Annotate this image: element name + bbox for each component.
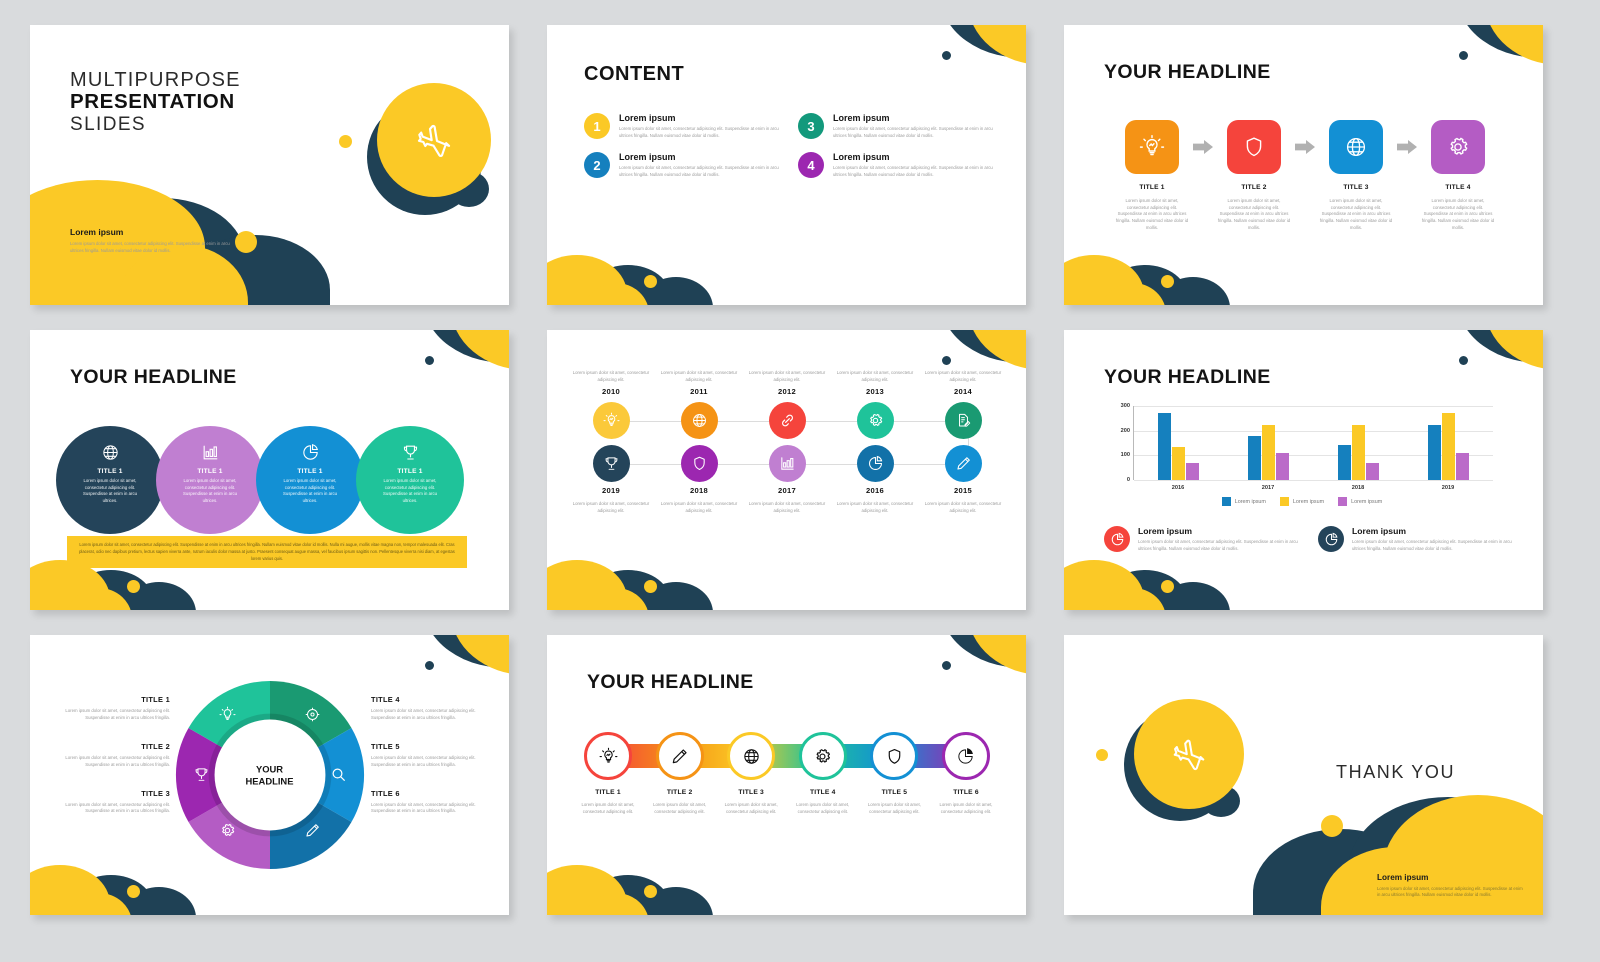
- label-title: TITLE 4: [371, 695, 491, 704]
- node-circle[interactable]: [857, 402, 894, 439]
- chain-labels: TITLE 1 Lorem ipsum dolor sit amet, cons…: [577, 789, 997, 816]
- item-number-badge: 1: [584, 113, 610, 139]
- list-item[interactable]: 3 Lorem ipsum Lorem ipsum dolor sit amet…: [798, 113, 994, 139]
- bottom-yellow-b: [583, 283, 649, 305]
- bottom-dot: [644, 275, 657, 288]
- process-steps: TITLE 1 Lorem ipsum dolor sit amet, cons…: [1087, 120, 1523, 231]
- corner-yellow-shape: [1485, 330, 1543, 370]
- timeline-label: 2018 Lorem ipsum dolor sit amet, consect…: [655, 482, 743, 514]
- gear-icon: [813, 747, 832, 766]
- step-icon-tile[interactable]: [1431, 120, 1485, 174]
- lorem-label: Lorem ipsum: [1377, 873, 1525, 882]
- legend-swatch: [1280, 497, 1289, 506]
- airplane-icon: [414, 120, 454, 160]
- corner-yellow-shape: [968, 330, 1026, 370]
- chain-title: TITLE 5: [863, 789, 925, 796]
- item-text: Lorem ipsum Lorem ipsum dolor sit amet, …: [619, 152, 780, 178]
- highlight-panel: Lorem ipsum dolor sit amet, consectetur …: [67, 536, 467, 568]
- bottom-navy-b: [639, 582, 713, 610]
- timeline-year: 2015: [919, 486, 1007, 495]
- donut-label[interactable]: TITLE 2 Lorem ipsum dolor sit amet, cons…: [50, 742, 170, 769]
- cover-planet-graphic: [353, 83, 491, 213]
- slide-thank-you[interactable]: THANK YOU Lorem ipsum Lorem ipsum dolor …: [1064, 635, 1543, 915]
- planet-small-dot: [339, 135, 352, 148]
- step-icon-tile[interactable]: [1329, 120, 1383, 174]
- corner-yellow-shape: [451, 330, 509, 370]
- globe-icon: [1344, 135, 1368, 159]
- timeline-label: 2019 Lorem ipsum dolor sit amet, consect…: [567, 482, 655, 514]
- chain-node[interactable]: [727, 732, 775, 780]
- trophy-icon: [603, 455, 620, 472]
- timeline-label: 2017 Lorem ipsum dolor sit amet, consect…: [743, 482, 831, 514]
- timeline-desc: Lorem ipsum dolor sit amet, consectetur …: [743, 370, 831, 383]
- info-circle[interactable]: TITLE 1 Lorem ipsum dolor sit amet, cons…: [156, 426, 264, 534]
- target-icon: [304, 706, 321, 723]
- shield-icon: [885, 747, 904, 766]
- slide-timeline[interactable]: Lorem ipsum dolor sit amet, consectetur …: [547, 330, 1026, 610]
- chart-y-tick-label: 0: [1127, 477, 1130, 483]
- label-title: TITLE 1: [50, 695, 170, 704]
- item-heading: Lorem ipsum: [833, 152, 994, 162]
- pencil-icon: [670, 747, 689, 766]
- chain-node[interactable]: [584, 732, 632, 780]
- node-circle[interactable]: [681, 445, 718, 482]
- chart-bar[interactable]: [1276, 453, 1289, 480]
- item-text: Lorem ipsum Lorem ipsum dolor sit amet, …: [619, 113, 780, 139]
- chain-node[interactable]: [942, 732, 990, 780]
- center-line2: HEADLINE: [246, 775, 294, 787]
- airplane-icon: [1170, 735, 1208, 773]
- bottom-yellow-b: [583, 893, 649, 915]
- donut-label[interactable]: TITLE 6 Lorem ipsum dolor sit amet, cons…: [371, 789, 491, 816]
- donut-icon-5-wrap: [330, 766, 347, 788]
- slide-circles[interactable]: YOUR HEADLINE TITLE 1 Lorem ipsum dolor …: [30, 330, 509, 610]
- timeline-year: 2010: [567, 387, 655, 396]
- bottom-yellow-b: [1100, 588, 1166, 610]
- globe-icon: [742, 747, 761, 766]
- search-icon: [330, 766, 347, 783]
- label-body: Lorem ipsum dolor sit amet, consectetur …: [371, 802, 491, 816]
- bottom-yellow-b: [66, 893, 132, 915]
- item-body: Lorem ipsum dolor sit amet, consectetur …: [619, 126, 780, 139]
- content-list: 1 Lorem ipsum Lorem ipsum dolor sit amet…: [584, 113, 994, 179]
- corner-dot: [942, 661, 951, 670]
- chain-title: TITLE 6: [935, 789, 997, 796]
- chart-bar[interactable]: [1366, 463, 1379, 480]
- bottom-navy-b: [1156, 582, 1230, 610]
- arrow-right-glyph: [1397, 140, 1417, 154]
- node-circle[interactable]: [593, 445, 630, 482]
- globe-icon: [101, 443, 120, 462]
- lightbulb-icon: [1139, 134, 1165, 160]
- pencil-icon: [304, 822, 321, 839]
- item-heading: Lorem ipsum: [833, 113, 994, 123]
- circle-title: TITLE 1: [197, 468, 222, 475]
- slide-cover[interactable]: MULTIPURPOSE PRESENTATION SLIDES Lorem i…: [30, 25, 509, 305]
- corner-dot: [1459, 356, 1468, 365]
- label-body: Lorem ipsum dolor sit amet, consectetur …: [50, 802, 170, 816]
- step-icon-tile[interactable]: [1227, 120, 1281, 174]
- bottom-navy-b: [122, 887, 196, 915]
- corner-navy-shape: [1457, 25, 1543, 77]
- chart-bar-group: [1248, 406, 1289, 480]
- lightbulb-icon: [599, 747, 618, 766]
- bottom-yellow-a: [547, 865, 627, 915]
- circle-body: Lorem ipsum dolor sit amet, consectetur …: [379, 478, 441, 505]
- timeline-top-labels: Lorem ipsum dolor sit amet, consectetur …: [567, 370, 1007, 402]
- chain-node[interactable]: [656, 732, 704, 780]
- legend-label: Lorem ipsum: [1293, 499, 1324, 505]
- summary-cards: Lorem ipsum Lorem ipsum dolor sit amet, …: [1104, 526, 1514, 552]
- timeline-desc: Lorem ipsum dolor sit amet, consectetur …: [919, 501, 1007, 514]
- legend-label: Lorem ipsum: [1351, 499, 1382, 505]
- node-circle[interactable]: [681, 402, 718, 439]
- item-text: Lorem ipsum Lorem ipsum dolor sit amet, …: [833, 113, 994, 139]
- item-text: Lorem ipsum Lorem ipsum dolor sit amet, …: [833, 152, 994, 178]
- donut-icon-1-wrap: [219, 706, 236, 728]
- timeline-label: Lorem ipsum dolor sit amet, consectetur …: [831, 370, 919, 402]
- node-circle[interactable]: [945, 402, 982, 439]
- donut-icon-6-wrap: [304, 822, 321, 844]
- card-icon-badge: [1318, 526, 1344, 552]
- circle-body: Lorem ipsum dolor sit amet, consectetur …: [279, 478, 341, 505]
- page-title: YOUR HEADLINE: [70, 366, 237, 389]
- list-item[interactable]: 2 Lorem ipsum Lorem ipsum dolor sit amet…: [584, 152, 780, 178]
- bottom-dot: [127, 885, 140, 898]
- corner-yellow-shape: [968, 635, 1026, 675]
- bottom-dot: [1161, 580, 1174, 593]
- bottom-navy-b: [639, 277, 713, 305]
- chain-node[interactable]: [799, 732, 847, 780]
- timeline-desc: Lorem ipsum dolor sit amet, consectetur …: [831, 501, 919, 514]
- thankyou-lorem-block: Lorem ipsum Lorem ipsum dolor sit amet, …: [1377, 873, 1525, 899]
- slide-deck: MULTIPURPOSE PRESENTATION SLIDES Lorem i…: [0, 0, 1600, 962]
- bar-chart-icon: [201, 443, 220, 462]
- timeline-bottom-labels: 2019 Lorem ipsum dolor sit amet, consect…: [567, 482, 1007, 514]
- corner-yellow-shape: [1485, 25, 1543, 65]
- slide-content[interactable]: CONTENT 1 Lorem ipsum Lorem ipsum dolor …: [547, 25, 1026, 305]
- lightbulb-icon: [219, 706, 236, 723]
- chart-plot-area: 0100200300: [1133, 406, 1493, 480]
- bar-chart: 0100200300 2016201720182019: [1107, 406, 1497, 494]
- page-title: YOUR HEADLINE: [1104, 61, 1271, 84]
- bottom-navy-b: [639, 887, 713, 915]
- step-title: TITLE 4: [1420, 184, 1496, 191]
- chain-title: TITLE 1: [577, 789, 639, 796]
- bottom-dot: [644, 580, 657, 593]
- step-body: Lorem ipsum dolor sit amet, consectetur …: [1114, 198, 1190, 231]
- chain-title: TITLE 2: [649, 789, 711, 796]
- chart-x-tick-label: 2018: [1352, 485, 1364, 491]
- bottom-dot: [1161, 275, 1174, 288]
- info-circle[interactable]: TITLE 1 Lorem ipsum dolor sit amet, cons…: [256, 426, 364, 534]
- corner-dot: [942, 356, 951, 365]
- bottom-yellow-a: [547, 255, 627, 305]
- item-number-badge: 2: [584, 152, 610, 178]
- bar-chart-icon: [779, 455, 796, 472]
- timeline-year: 2017: [743, 486, 831, 495]
- timeline-desc: Lorem ipsum dolor sit amet, consectetur …: [655, 501, 743, 514]
- chain-title: TITLE 3: [720, 789, 782, 796]
- bottom-yellow-a: [1064, 255, 1144, 305]
- label-body: Lorem ipsum dolor sit amet, consectetur …: [371, 708, 491, 722]
- legend-label: Lorem ipsum: [1235, 499, 1266, 505]
- timeline-label: 2016 Lorem ipsum dolor sit amet, consect…: [831, 482, 919, 514]
- timeline-desc: Lorem ipsum dolor sit amet, consectetur …: [567, 501, 655, 514]
- process-step[interactable]: TITLE 2 Lorem ipsum dolor sit amet, cons…: [1216, 120, 1292, 231]
- timeline-desc: Lorem ipsum dolor sit amet, consectetur …: [743, 501, 831, 514]
- timeline-label: Lorem ipsum dolor sit amet, consectetur …: [919, 370, 1007, 402]
- corner-dot: [425, 661, 434, 670]
- timeline-year: 2011: [655, 387, 743, 396]
- item-heading: Lorem ipsum: [619, 113, 780, 123]
- cover-lorem-block: Lorem ipsum Lorem ipsum dolor sit amet, …: [70, 227, 230, 254]
- step-title: TITLE 3: [1318, 184, 1394, 191]
- node-circle[interactable]: [769, 402, 806, 439]
- summary-card[interactable]: Lorem ipsum Lorem ipsum dolor sit amet, …: [1318, 526, 1514, 552]
- corner-dot: [425, 356, 434, 365]
- chart-legend-item[interactable]: Lorem ipsum: [1280, 497, 1324, 506]
- chart-bar[interactable]: [1262, 425, 1275, 480]
- donut-center-label: YOUR HEADLINE: [246, 763, 294, 787]
- shield-icon: [1242, 135, 1266, 159]
- list-item[interactable]: 1 Lorem ipsum Lorem ipsum dolor sit amet…: [584, 113, 780, 139]
- slide-process-squares[interactable]: YOUR HEADLINE TITLE 1 Lorem ipsum dolor …: [1064, 25, 1543, 305]
- page-title: YOUR HEADLINE: [587, 671, 754, 694]
- chart-legend-item[interactable]: Lorem ipsum: [1338, 497, 1382, 506]
- node-circle[interactable]: [593, 402, 630, 439]
- corner-dot: [942, 51, 951, 60]
- chain-label: TITLE 1 Lorem ipsum dolor sit amet, cons…: [577, 789, 639, 816]
- pie-chart-icon: [867, 455, 884, 472]
- node-circle[interactable]: [945, 445, 982, 482]
- donut-left-labels: TITLE 1 Lorem ipsum dolor sit amet, cons…: [50, 695, 170, 835]
- corner-yellow-shape: [451, 635, 509, 675]
- bottom-navy-a: [585, 265, 671, 305]
- chart-y-tick-label: 200: [1121, 428, 1130, 434]
- cover-title-line3: SLIDES: [70, 114, 241, 135]
- donut-icon-2-wrap: [193, 766, 210, 788]
- timeline-year: 2018: [655, 486, 743, 495]
- timeline-year: 2019: [567, 486, 655, 495]
- planet-disc: [1134, 699, 1244, 809]
- arrow-right-icon: [1394, 140, 1420, 154]
- bottom-navy-a: [1102, 265, 1188, 305]
- card-text: Lorem ipsum Lorem ipsum dolor sit amet, …: [1352, 526, 1514, 552]
- label-title: TITLE 6: [371, 789, 491, 798]
- bottom-navy-a: [68, 570, 154, 610]
- chart-legend: Lorem ipsumLorem ipsumLorem ipsum: [1107, 497, 1497, 506]
- timeline-year: 2013: [831, 387, 919, 396]
- shield-icon: [691, 455, 708, 472]
- globe-icon: [691, 412, 708, 429]
- timeline-year: 2014: [919, 387, 1007, 396]
- circle-title: TITLE 1: [97, 468, 122, 475]
- bottom-yellow-b: [66, 588, 132, 610]
- bottom-navy-a: [585, 875, 671, 915]
- cover-title-line2: PRESENTATION: [70, 91, 241, 114]
- item-heading: Lorem ipsum: [619, 152, 780, 162]
- chain-group: TITLE 1 Lorem ipsum dolor sit amet, cons…: [577, 731, 997, 816]
- chain-body: Lorem ipsum dolor sit amet, consectetur …: [792, 802, 854, 816]
- thankyou-planet-graphic: [1122, 699, 1252, 824]
- item-number-badge: 3: [798, 113, 824, 139]
- arrow-right-icon: [1190, 140, 1216, 154]
- slide-bar-chart[interactable]: YOUR HEADLINE 0100200300 201620172018201…: [1064, 330, 1543, 610]
- process-step[interactable]: TITLE 1 Lorem ipsum dolor sit amet, cons…: [1114, 120, 1190, 231]
- blob-dot: [235, 231, 257, 253]
- legend-swatch: [1222, 497, 1231, 506]
- corner-navy-shape: [1457, 330, 1543, 382]
- legend-swatch: [1338, 497, 1347, 506]
- process-step[interactable]: TITLE 3 Lorem ipsum dolor sit amet, cons…: [1318, 120, 1394, 231]
- bottom-yellow-b: [583, 588, 649, 610]
- bottom-navy-a: [1102, 570, 1188, 610]
- bottom-dot: [644, 885, 657, 898]
- card-icon-badge: [1104, 526, 1130, 552]
- bottom-yellow-a: [30, 865, 110, 915]
- donut-label[interactable]: TITLE 5 Lorem ipsum dolor sit amet, cons…: [371, 742, 491, 769]
- step-body: Lorem ipsum dolor sit amet, consectetur …: [1420, 198, 1496, 231]
- chart-bar[interactable]: [1338, 445, 1351, 480]
- timeline-desc: Lorem ipsum dolor sit amet, consectetur …: [655, 370, 743, 383]
- step-title: TITLE 2: [1216, 184, 1292, 191]
- donut-label[interactable]: TITLE 4 Lorem ipsum dolor sit amet, cons…: [371, 695, 491, 722]
- item-body: Lorem ipsum dolor sit amet, consectetur …: [619, 165, 780, 178]
- document-edit-icon: [955, 412, 972, 429]
- corner-navy-shape: [423, 330, 509, 382]
- chart-bar[interactable]: [1428, 425, 1441, 480]
- chain-label: TITLE 6 Lorem ipsum dolor sit amet, cons…: [935, 789, 997, 816]
- chart-x-tick-label: 2019: [1442, 485, 1454, 491]
- planet-small-dot: [1096, 749, 1108, 761]
- summary-card[interactable]: Lorem ipsum Lorem ipsum dolor sit amet, …: [1104, 526, 1300, 552]
- chart-bar-groups: [1134, 406, 1493, 480]
- timeline-bottom-nodes: [567, 445, 1007, 482]
- step-body: Lorem ipsum dolor sit amet, consectetur …: [1318, 198, 1394, 231]
- bottom-navy-b: [1156, 277, 1230, 305]
- timeline-label: Lorem ipsum dolor sit amet, consectetur …: [743, 370, 831, 402]
- card-heading: Lorem ipsum: [1352, 526, 1514, 536]
- chain-title: TITLE 4: [792, 789, 854, 796]
- donut-label[interactable]: TITLE 3 Lorem ipsum dolor sit amet, cons…: [50, 789, 170, 816]
- gear-icon: [219, 822, 236, 839]
- step-title: TITLE 1: [1114, 184, 1190, 191]
- lightbulb-icon: [603, 412, 620, 429]
- chart-bar-group: [1158, 406, 1199, 480]
- timeline-top-nodes: [567, 402, 1007, 439]
- bottom-navy-a: [68, 875, 154, 915]
- chart-x-tick-label: 2017: [1262, 485, 1274, 491]
- label-body: Lorem ipsum dolor sit amet, consectetur …: [371, 755, 491, 769]
- planet-disc: [377, 83, 491, 197]
- card-body: Lorem ipsum dolor sit amet, consectetur …: [1352, 539, 1514, 552]
- donut-icon-3-wrap: [219, 822, 236, 844]
- list-item[interactable]: 4 Lorem ipsum Lorem ipsum dolor sit amet…: [798, 152, 994, 178]
- cover-lorem-label: Lorem ipsum: [70, 227, 230, 237]
- chart-bar[interactable]: [1352, 425, 1365, 480]
- label-body: Lorem ipsum dolor sit amet, consectetur …: [50, 755, 170, 769]
- chart-y-tick-label: 100: [1121, 452, 1130, 458]
- card-body: Lorem ipsum dolor sit amet, consectetur …: [1138, 539, 1300, 552]
- center-line1: YOUR: [246, 763, 294, 775]
- chart-bar[interactable]: [1248, 436, 1261, 480]
- slide-chain[interactable]: YOUR HEADLINE: [547, 635, 1026, 915]
- corner-navy-shape: [940, 25, 1026, 77]
- bottom-yellow-a: [547, 560, 627, 610]
- circle-title: TITLE 1: [397, 468, 422, 475]
- chart-bar-group: [1428, 406, 1469, 480]
- chart-bar[interactable]: [1186, 463, 1199, 480]
- donut-right-labels: TITLE 4 Lorem ipsum dolor sit amet, cons…: [371, 695, 491, 835]
- chart-legend-item[interactable]: Lorem ipsum: [1222, 497, 1266, 506]
- timeline-label: Lorem ipsum dolor sit amet, consectetur …: [567, 370, 655, 402]
- timeline-desc: Lorem ipsum dolor sit amet, consectetur …: [831, 370, 919, 383]
- gear-icon: [867, 412, 884, 429]
- chain-label: TITLE 4 Lorem ipsum dolor sit amet, cons…: [792, 789, 854, 816]
- card-text: Lorem ipsum Lorem ipsum dolor sit amet, …: [1138, 526, 1300, 552]
- info-circle[interactable]: TITLE 1 Lorem ipsum dolor sit amet, cons…: [356, 426, 464, 534]
- chain-node[interactable]: [870, 732, 918, 780]
- page-title: YOUR HEADLINE: [1104, 366, 1271, 389]
- chart-bar[interactable]: [1158, 413, 1171, 480]
- process-step[interactable]: TITLE 4 Lorem ipsum dolor sit amet, cons…: [1420, 120, 1496, 231]
- donut-chart: YOUR HEADLINE: [171, 676, 369, 874]
- item-body: Lorem ipsum dolor sit amet, consectetur …: [833, 126, 994, 139]
- arrow-right-glyph: [1193, 140, 1213, 154]
- pie-chart-icon: [956, 747, 975, 766]
- slide-donut[interactable]: TITLE 1 Lorem ipsum dolor sit amet, cons…: [30, 635, 509, 915]
- chart-bar-group: [1338, 406, 1379, 480]
- info-circle[interactable]: TITLE 1 Lorem ipsum dolor sit amet, cons…: [56, 426, 164, 534]
- chain-body: Lorem ipsum dolor sit amet, consectetur …: [649, 802, 711, 816]
- label-title: TITLE 5: [371, 742, 491, 751]
- chart-y-tick-label: 300: [1121, 403, 1130, 409]
- step-icon-tile[interactable]: [1125, 120, 1179, 174]
- label-title: TITLE 3: [50, 789, 170, 798]
- node-circle[interactable]: [769, 445, 806, 482]
- chart-bar[interactable]: [1442, 413, 1455, 480]
- arrow-right-glyph: [1295, 140, 1315, 154]
- circle-title: TITLE 1: [297, 468, 322, 475]
- link-icon: [779, 412, 796, 429]
- content-title: CONTENT: [584, 63, 684, 86]
- cover-title-line1: MULTIPURPOSE: [70, 69, 241, 91]
- donut-icon-4-wrap: [304, 706, 321, 728]
- bottom-navy-a: [585, 570, 671, 610]
- timeline-year: 2016: [831, 486, 919, 495]
- chart-bar[interactable]: [1456, 453, 1469, 480]
- pie-chart-icon: [301, 443, 320, 462]
- highlight-text: Lorem ipsum dolor sit amet, consectetur …: [77, 542, 457, 562]
- lorem-body: Lorem ipsum dolor sit amet, consectetur …: [1377, 886, 1525, 899]
- bottom-yellow-b: [1100, 283, 1166, 305]
- donut-label[interactable]: TITLE 1 Lorem ipsum dolor sit amet, cons…: [50, 695, 170, 722]
- chain-body: Lorem ipsum dolor sit amet, consectetur …: [935, 802, 997, 816]
- item-number-badge: 4: [798, 152, 824, 178]
- corner-navy-shape: [423, 635, 509, 687]
- gear-icon: [1446, 135, 1470, 159]
- timeline-desc: Lorem ipsum dolor sit amet, consectetur …: [919, 370, 1007, 383]
- corner-navy-shape: [940, 635, 1026, 687]
- step-body: Lorem ipsum dolor sit amet, consectetur …: [1216, 198, 1292, 231]
- timeline-label: 2015 Lorem ipsum dolor sit amet, consect…: [919, 482, 1007, 514]
- node-circle[interactable]: [857, 445, 894, 482]
- chain-label: TITLE 5 Lorem ipsum dolor sit amet, cons…: [863, 789, 925, 816]
- chart-bar[interactable]: [1172, 447, 1185, 480]
- arrow-right-icon: [1292, 140, 1318, 154]
- label-title: TITLE 2: [50, 742, 170, 751]
